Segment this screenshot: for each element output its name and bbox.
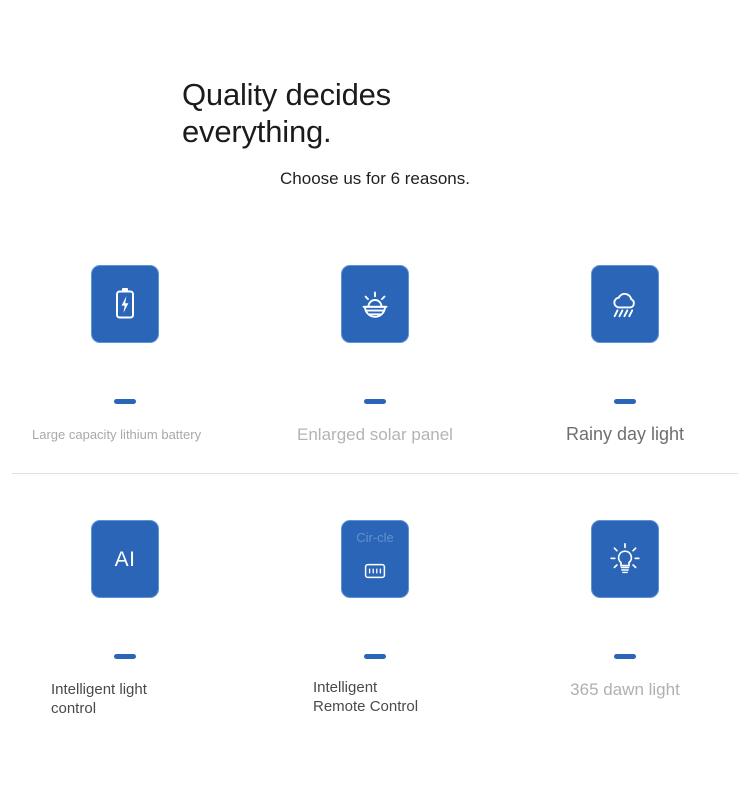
feature-row-two: AI Intelligent light control Cir-cle xyxy=(0,520,750,718)
heading-block: Quality decides everything. Choose us fo… xyxy=(0,76,750,190)
battery-bolt-tile[interactable] xyxy=(91,265,159,343)
accent-dash xyxy=(614,654,636,659)
feature-highlights-page: Quality decides everything. Choose us fo… xyxy=(0,0,750,803)
feature-caption: Enlarged solar panel xyxy=(270,425,480,445)
ai-text-icon: AI xyxy=(115,549,136,570)
feature-cell-dawn-light[interactable]: 365 dawn light xyxy=(500,520,750,718)
accent-dash xyxy=(114,399,136,404)
page-title: Quality decides everything. xyxy=(182,76,516,150)
page-subtitle: Choose us for 6 reasons. xyxy=(0,168,750,190)
light-bulb-tile[interactable] xyxy=(591,520,659,598)
remote-control-icon xyxy=(364,563,386,579)
accent-dash xyxy=(114,654,136,659)
remote-control-tile[interactable]: Cir-cle xyxy=(341,520,409,598)
accent-dash xyxy=(364,399,386,404)
accent-dash xyxy=(364,654,386,659)
feature-caption: 365 dawn light xyxy=(520,680,730,700)
section-divider xyxy=(12,473,738,474)
feature-caption: Large capacity lithium battery xyxy=(32,426,210,443)
feature-caption: Rainy day light xyxy=(520,424,730,444)
battery-bolt-icon xyxy=(112,286,138,322)
feature-caption: Intelligent Remote Control xyxy=(313,678,431,716)
feature-cell-ai-control[interactable]: AI Intelligent light control xyxy=(0,520,250,718)
light-bulb-icon xyxy=(609,542,641,576)
accent-dash xyxy=(614,399,636,404)
feature-cell-solar-panel[interactable]: Enlarged solar panel xyxy=(250,265,500,445)
sunrise-solar-panel-tile[interactable] xyxy=(341,265,409,343)
rain-cloud-icon xyxy=(608,288,642,320)
feature-row-one: Large capacity lithium battery xyxy=(0,265,750,445)
feature-caption: Intelligent light control xyxy=(51,680,191,718)
feature-cell-rainy-day[interactable]: Rainy day light xyxy=(500,265,750,445)
sunrise-solar-panel-icon xyxy=(358,288,392,320)
feature-cell-remote-control[interactable]: Cir-cle Intelligent Remote Control xyxy=(250,520,500,718)
rain-cloud-tile[interactable] xyxy=(591,265,659,343)
feature-cell-battery[interactable]: Large capacity lithium battery xyxy=(0,265,250,445)
ai-text-tile[interactable]: AI xyxy=(91,520,159,598)
remote-tile-ghost-label: Cir-cle xyxy=(342,531,408,545)
